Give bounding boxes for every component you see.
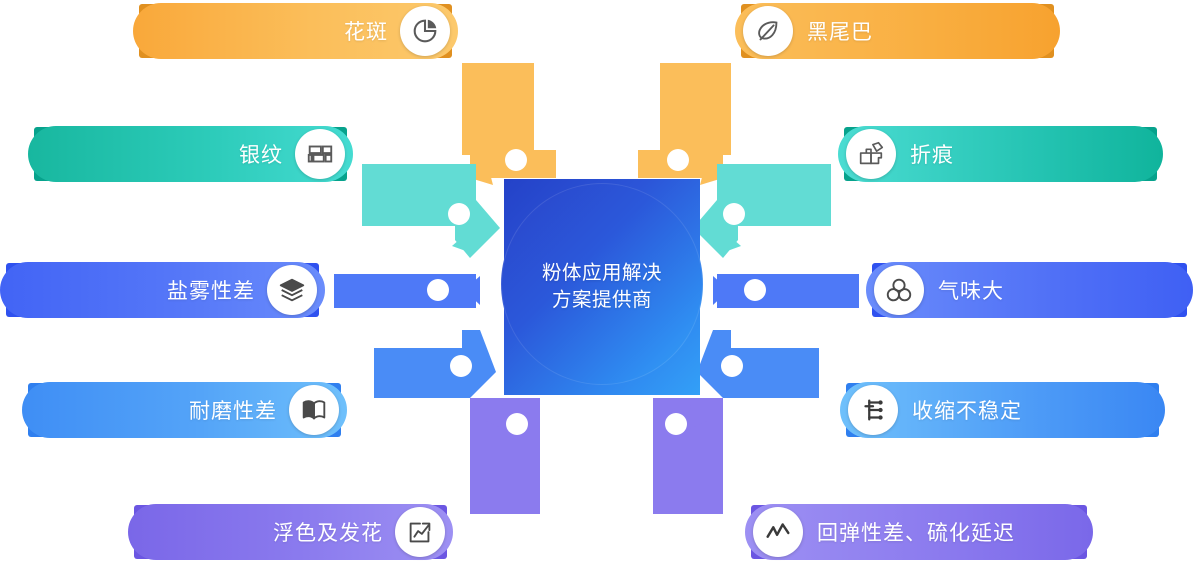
node-left-5[interactable]: 浮色及发花 [128,501,453,563]
connector-left-4 [374,330,496,398]
connector-left-2 [362,164,500,258]
center-title: 粉体应用解决 方案提供商 [504,260,700,314]
node-left-2[interactable]: 银纹 [28,123,353,185]
connector-right-1 [638,63,731,185]
center-node[interactable]: 粉体应用解决 方案提供商 [504,179,700,395]
node-left-3[interactable]: 盐雾性差 [0,259,325,321]
trend-up-box-icon [395,507,445,557]
node-right-3[interactable]: 气味大 [866,259,1193,321]
pie-chart-icon [400,6,450,56]
pill-body: 耐磨性差 [22,382,347,438]
node-label: 花斑 [344,16,388,46]
pill-body: 盐雾性差 [0,262,325,318]
node-label: 回弹性差、硫化延迟 [817,517,1015,547]
connector-right-4 [697,330,819,398]
pill-body: 收缩不稳定 [840,382,1165,438]
map-icon [289,385,339,435]
pill-body: 银纹 [28,126,353,182]
pill-body: 气味大 [866,262,1193,318]
recycle-icon [874,265,924,315]
node-label: 盐雾性差 [167,275,255,305]
node-label: 收缩不稳定 [912,395,1022,425]
node-label: 银纹 [239,139,283,169]
infographic-canvas: 粉体应用解决 方案提供商 花斑 银纹 [0,0,1193,577]
node-right-4[interactable]: 收缩不稳定 [840,379,1165,441]
puzzle-icon [846,129,896,179]
node-right-2[interactable]: 折痕 [838,123,1163,185]
connector-left-5 [470,398,540,514]
connector-right-3 [713,274,859,308]
node-label: 耐磨性差 [189,395,277,425]
node-right-5[interactable]: 回弹性差、硫化延迟 [745,501,1093,563]
node-label: 气味大 [938,275,1004,305]
node-left-4[interactable]: 耐磨性差 [22,379,347,441]
brick-wall-icon [295,129,345,179]
pill-body: 花斑 [133,3,458,59]
connector-left-1 [462,63,556,185]
connector-left-3 [334,274,480,308]
pill-body: 浮色及发花 [128,504,453,560]
pill-body: 回弹性差、硫化延迟 [745,504,1093,560]
node-left-1[interactable]: 花斑 [133,0,458,62]
node-right-1[interactable]: 黑尾巴 [735,0,1060,62]
line-chart-icon [753,507,803,557]
node-label: 黑尾巴 [807,16,873,46]
connector-right-5 [653,398,723,514]
leaf-icon [743,6,793,56]
connector-right-2 [693,164,831,258]
node-label: 折痕 [910,139,954,169]
pill-body: 黑尾巴 [735,3,1060,59]
layers-icon [267,265,317,315]
node-label: 浮色及发花 [273,517,383,547]
pill-body: 折痕 [838,126,1163,182]
flow-dots-icon [848,385,898,435]
